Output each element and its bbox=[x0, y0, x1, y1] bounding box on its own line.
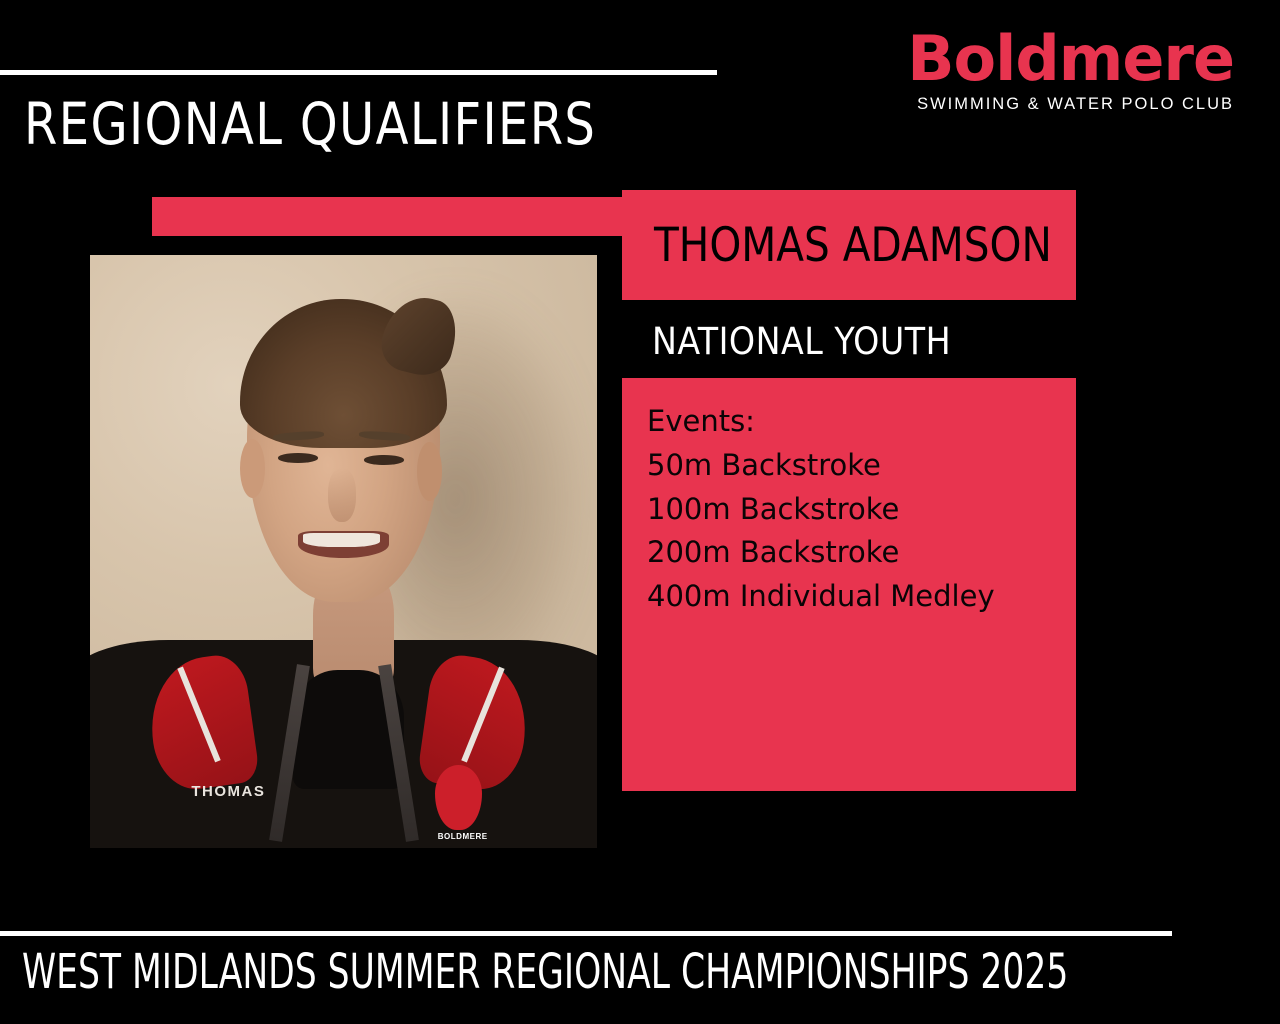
photo-teeth bbox=[303, 533, 380, 547]
event-item: 200m Backstroke bbox=[647, 531, 995, 575]
photo-eye-left bbox=[278, 453, 319, 462]
poster-canvas: REGIONAL QUALIFIERS Boldmere SWIMMING & … bbox=[0, 0, 1280, 1024]
photo-eye-right bbox=[364, 455, 405, 464]
events-list: Events: 50m Backstroke 100m Backstroke 2… bbox=[647, 400, 995, 619]
athlete-name-banner: THOMAS ADAMSON bbox=[622, 190, 1076, 300]
events-panel: Events: 50m Backstroke 100m Backstroke 2… bbox=[622, 378, 1076, 791]
red-accent-bar bbox=[152, 197, 622, 236]
photo-club-badge-mark bbox=[435, 765, 482, 830]
club-logo-subtitle: SWIMMING & WATER POLO CLUB bbox=[907, 95, 1234, 114]
page-title: REGIONAL QUALIFIERS bbox=[24, 95, 596, 153]
event-item: 100m Backstroke bbox=[647, 488, 995, 532]
footer-divider-rule bbox=[0, 931, 1172, 936]
athlete-squad: NATIONAL YOUTH bbox=[652, 320, 951, 363]
photo-club-badge: BOLDMERE bbox=[435, 765, 511, 830]
photo-mouth bbox=[298, 531, 389, 558]
photo-jacket-name: THOMAS bbox=[191, 783, 265, 800]
club-logo: Boldmere SWIMMING & WATER POLO CLUB bbox=[907, 30, 1234, 114]
header-divider-rule bbox=[0, 70, 717, 75]
photo-ear-left bbox=[240, 439, 265, 498]
club-logo-wordmark: Boldmere bbox=[907, 30, 1234, 89]
photo-club-badge-label: BOLDMERE bbox=[438, 832, 488, 841]
events-heading: Events: bbox=[647, 400, 995, 444]
athlete-name: THOMAS ADAMSON bbox=[654, 218, 1052, 273]
footer-event-title: WEST MIDLANDS SUMMER REGIONAL CHAMPIONSH… bbox=[22, 944, 1068, 1000]
event-item: 400m Individual Medley bbox=[647, 575, 995, 619]
photo-nose bbox=[328, 468, 356, 521]
event-item: 50m Backstroke bbox=[647, 444, 995, 488]
athlete-photo: THOMAS BOLDMERE bbox=[90, 255, 597, 848]
